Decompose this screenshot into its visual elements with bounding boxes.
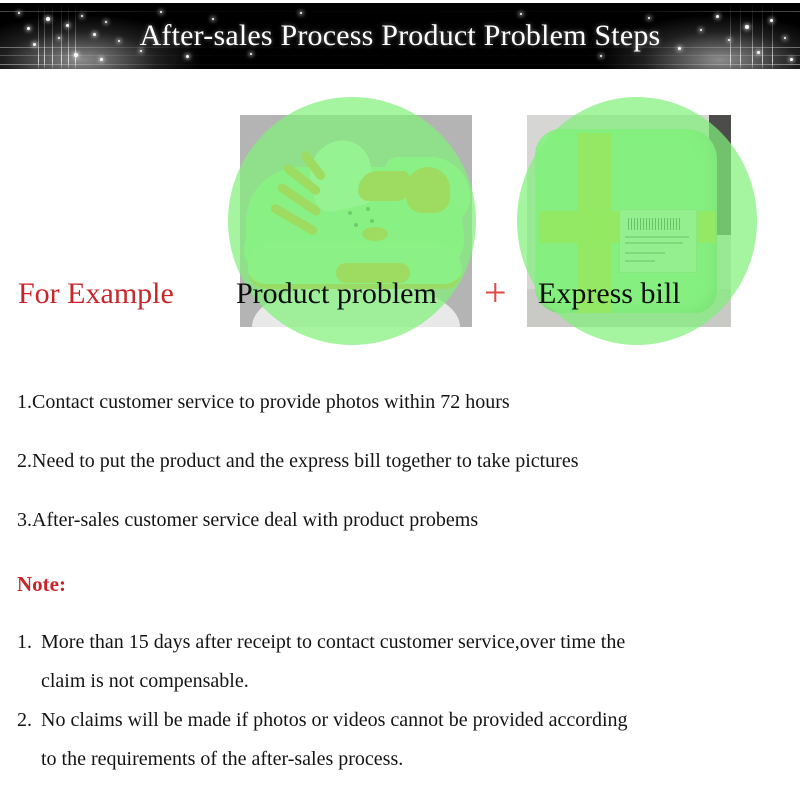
note-item-number: 2. xyxy=(17,701,32,740)
example-row: For Example Product problem + xyxy=(0,69,800,359)
note-item: 2. No claims will be made if photos or v… xyxy=(17,701,787,779)
note-item-line: claim is not compensable. xyxy=(41,662,787,701)
product-problem-caption: Product problem xyxy=(236,277,437,311)
note-item-number: 1. xyxy=(17,623,32,662)
header-banner: After-sales Process Product Problem Step… xyxy=(0,3,800,69)
shipping-label-line xyxy=(625,242,683,244)
note-item: 1. More than 15 days after receipt to co… xyxy=(17,623,787,701)
sneaker-orange-accent xyxy=(406,167,450,213)
shipping-label-line xyxy=(625,260,655,262)
sneaker-eyelet xyxy=(348,211,352,215)
shipping-label-line xyxy=(625,252,665,254)
shipping-label xyxy=(619,209,697,273)
note-item-line: No claims will be made if photos or vide… xyxy=(41,701,787,740)
shipping-label-line xyxy=(625,236,689,238)
note-item-line: More than 15 days after receipt to conta… xyxy=(41,623,787,662)
note-heading: Note: xyxy=(17,572,787,597)
plus-icon: + xyxy=(484,273,507,313)
steps-list: 1.Contact customer service to provide ph… xyxy=(17,392,783,569)
sneaker-eyelet xyxy=(354,223,358,227)
sneaker-orange-accent xyxy=(362,227,388,241)
sneaker-eyelet xyxy=(366,207,370,211)
note-item-line: to the requirements of the after-sales p… xyxy=(41,740,787,779)
for-example-label: For Example xyxy=(18,277,174,311)
page-title: After-sales Process Product Problem Step… xyxy=(0,3,800,69)
step-item: 1.Contact customer service to provide ph… xyxy=(17,392,783,412)
express-bill-caption: Express bill xyxy=(538,277,681,311)
sneaker-eyelet xyxy=(370,219,374,223)
sneaker-orange-accent xyxy=(358,171,410,201)
barcode-icon xyxy=(628,218,680,230)
step-item: 3.After-sales customer service deal with… xyxy=(17,510,783,530)
step-item: 2.Need to put the product and the expres… xyxy=(17,451,783,471)
note-block: Note: 1. More than 15 days after receipt… xyxy=(17,572,787,779)
